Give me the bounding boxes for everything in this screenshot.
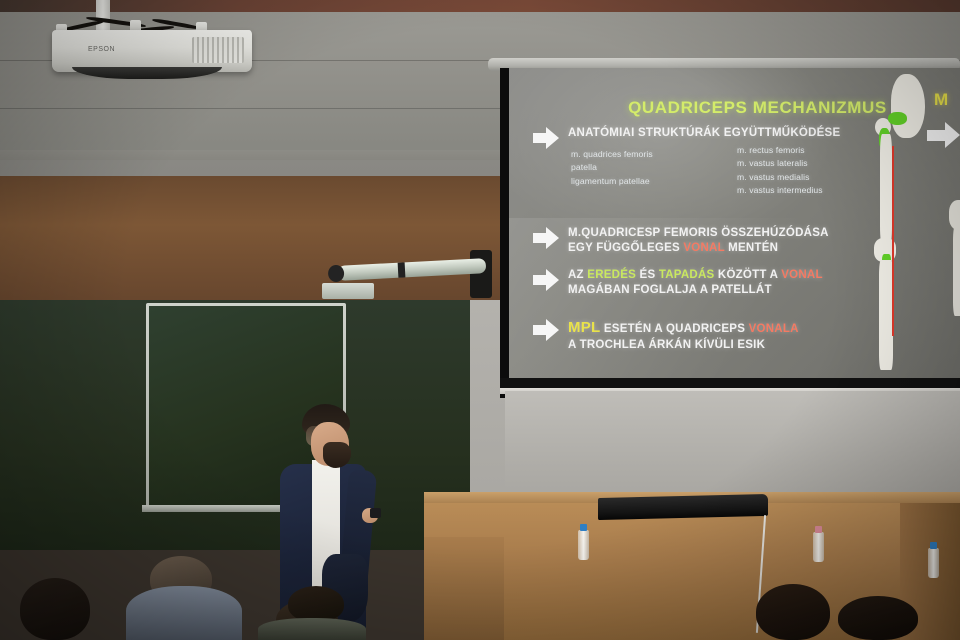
- arrow-icon: [533, 269, 559, 290]
- rail-ring: [398, 262, 406, 277]
- audience-head: [20, 578, 90, 640]
- femur-shaft-bone: [880, 134, 892, 246]
- bullet-mpl-line1: MPL ESETÉN A QUADRICEPS VONALA: [568, 318, 799, 338]
- quadriceps-line-marker: [892, 146, 894, 336]
- audience-head: [288, 586, 344, 622]
- water-bottle[interactable]: [578, 530, 589, 560]
- text-segment: MENTÉN: [725, 242, 779, 254]
- sub-item: m. vastus intermedius: [737, 184, 823, 197]
- arrow-icon: [533, 319, 559, 340]
- highlight-vonal: VONAL: [683, 242, 724, 254]
- water-bottle[interactable]: [928, 548, 939, 578]
- projector-vent-grille: [192, 37, 244, 63]
- sub-item: m. vastus medialis: [737, 171, 823, 184]
- screen-left-border: [500, 68, 509, 398]
- bottle-cap: [815, 526, 822, 533]
- secondary-bone-lower: [953, 226, 960, 316]
- bullet-origin-line1: AZ EREDÉS ÉS TAPADÁS KÖZÖTT A VONAL: [568, 268, 823, 283]
- sub-item: patella: [571, 161, 653, 174]
- slide-bullet-origin-insertion: AZ EREDÉS ÉS TAPADÁS KÖZÖTT A VONAL MAGÁ…: [533, 268, 823, 298]
- desk-left-step: [424, 537, 504, 640]
- arrow-icon: [927, 122, 960, 148]
- slide-bullet-mpl: MPL ESETÉN A QUADRICEPS VONALA A TROCHLE…: [533, 318, 799, 353]
- bullet-anatomy-sublist-right: m. rectus femoris m. vastus lateralis m.…: [737, 144, 823, 197]
- highlight-eredes: EREDÉS: [587, 269, 636, 281]
- projector-brand-label: EPSON: [88, 46, 115, 53]
- cutoff-panel-title: M: [934, 90, 948, 110]
- wood-paneling: [0, 176, 520, 316]
- audience-shoulders: [126, 586, 242, 640]
- text-segment: EGY FÜGGŐLEGES: [568, 242, 683, 254]
- arrow-icon: [533, 127, 559, 148]
- sub-item: ligamentum patellae: [571, 175, 653, 188]
- skeleton-knee-secondary: [939, 200, 960, 330]
- audience-shoulders: [258, 618, 366, 640]
- presentation-slide: QUADRICEPS MECHANIZMUS ANATÓMIAI STRUKTÚ…: [509, 68, 960, 378]
- highlight-tapadas: TAPADÁS: [659, 269, 715, 281]
- text-segment: AZ: [568, 269, 587, 281]
- highlight-mpl: MPL: [568, 319, 600, 336]
- bottle-cap: [930, 542, 937, 549]
- lecture-hall-scene: EPSON QUADRICEPS MECHANIZMUS ANATÓMIAI S…: [0, 0, 960, 640]
- audience-head: [756, 584, 830, 640]
- audience-head: [838, 596, 918, 640]
- text-segment: KÖZÖTT A: [714, 269, 781, 281]
- tibia-bone: [879, 260, 893, 370]
- pelvis-bone: [891, 74, 925, 138]
- bullet-contraction-line1: M.QUADRICESP FEMORIS ÖSSZEHÚZÓDÁSA: [568, 226, 829, 241]
- projection-screen: QUADRICEPS MECHANIZMUS ANATÓMIAI STRUKTÚ…: [509, 68, 960, 378]
- bullet-contraction-line2: EGY FÜGGŐLEGES VONAL MENTÉN: [568, 241, 829, 256]
- skeleton-leg-diagram: [861, 74, 927, 374]
- green-highlight-hip: [888, 112, 907, 125]
- bullet-anatomy-heading: ANATÓMIAI STRUKTÚRÁK EGYÜTTMŰKÖDÉSE: [568, 126, 840, 141]
- highlight-vonala: VONALA: [749, 323, 799, 335]
- slide-bullet-contraction: M.QUADRICESP FEMORIS ÖSSZEHÚZÓDÁSA EGY F…: [533, 226, 829, 256]
- presenter-remote[interactable]: [370, 508, 381, 518]
- ceiling-projector: EPSON: [52, 30, 252, 72]
- text-segment: ÉS: [636, 269, 659, 281]
- bottle-cap: [580, 524, 587, 531]
- bullet-origin-line2: MAGÁBAN FOGLALJA A PATELLÁT: [568, 283, 823, 298]
- sub-item: m. quadrices femoris: [571, 148, 653, 161]
- rail-wall-bracket: [470, 250, 492, 298]
- laptop[interactable]: [598, 494, 768, 520]
- bullet-mpl-line2: A TROCHLEA ÁRKÁN KÍVÜLI ESIK: [568, 338, 799, 353]
- text-segment: ESETÉN A QUADRICEPS: [600, 323, 748, 335]
- arrow-icon: [533, 227, 559, 248]
- rail-base-plate: [322, 283, 374, 299]
- sub-item: m. vastus lateralis: [737, 157, 823, 170]
- bullet-anatomy-sublist-left: m. quadrices femoris patella ligamentum …: [571, 148, 653, 188]
- water-bottle[interactable]: [813, 532, 824, 562]
- highlight-vonal: VONAL: [781, 269, 823, 281]
- sub-item: m. rectus femoris: [737, 144, 823, 157]
- rail-end-cap: [328, 265, 345, 283]
